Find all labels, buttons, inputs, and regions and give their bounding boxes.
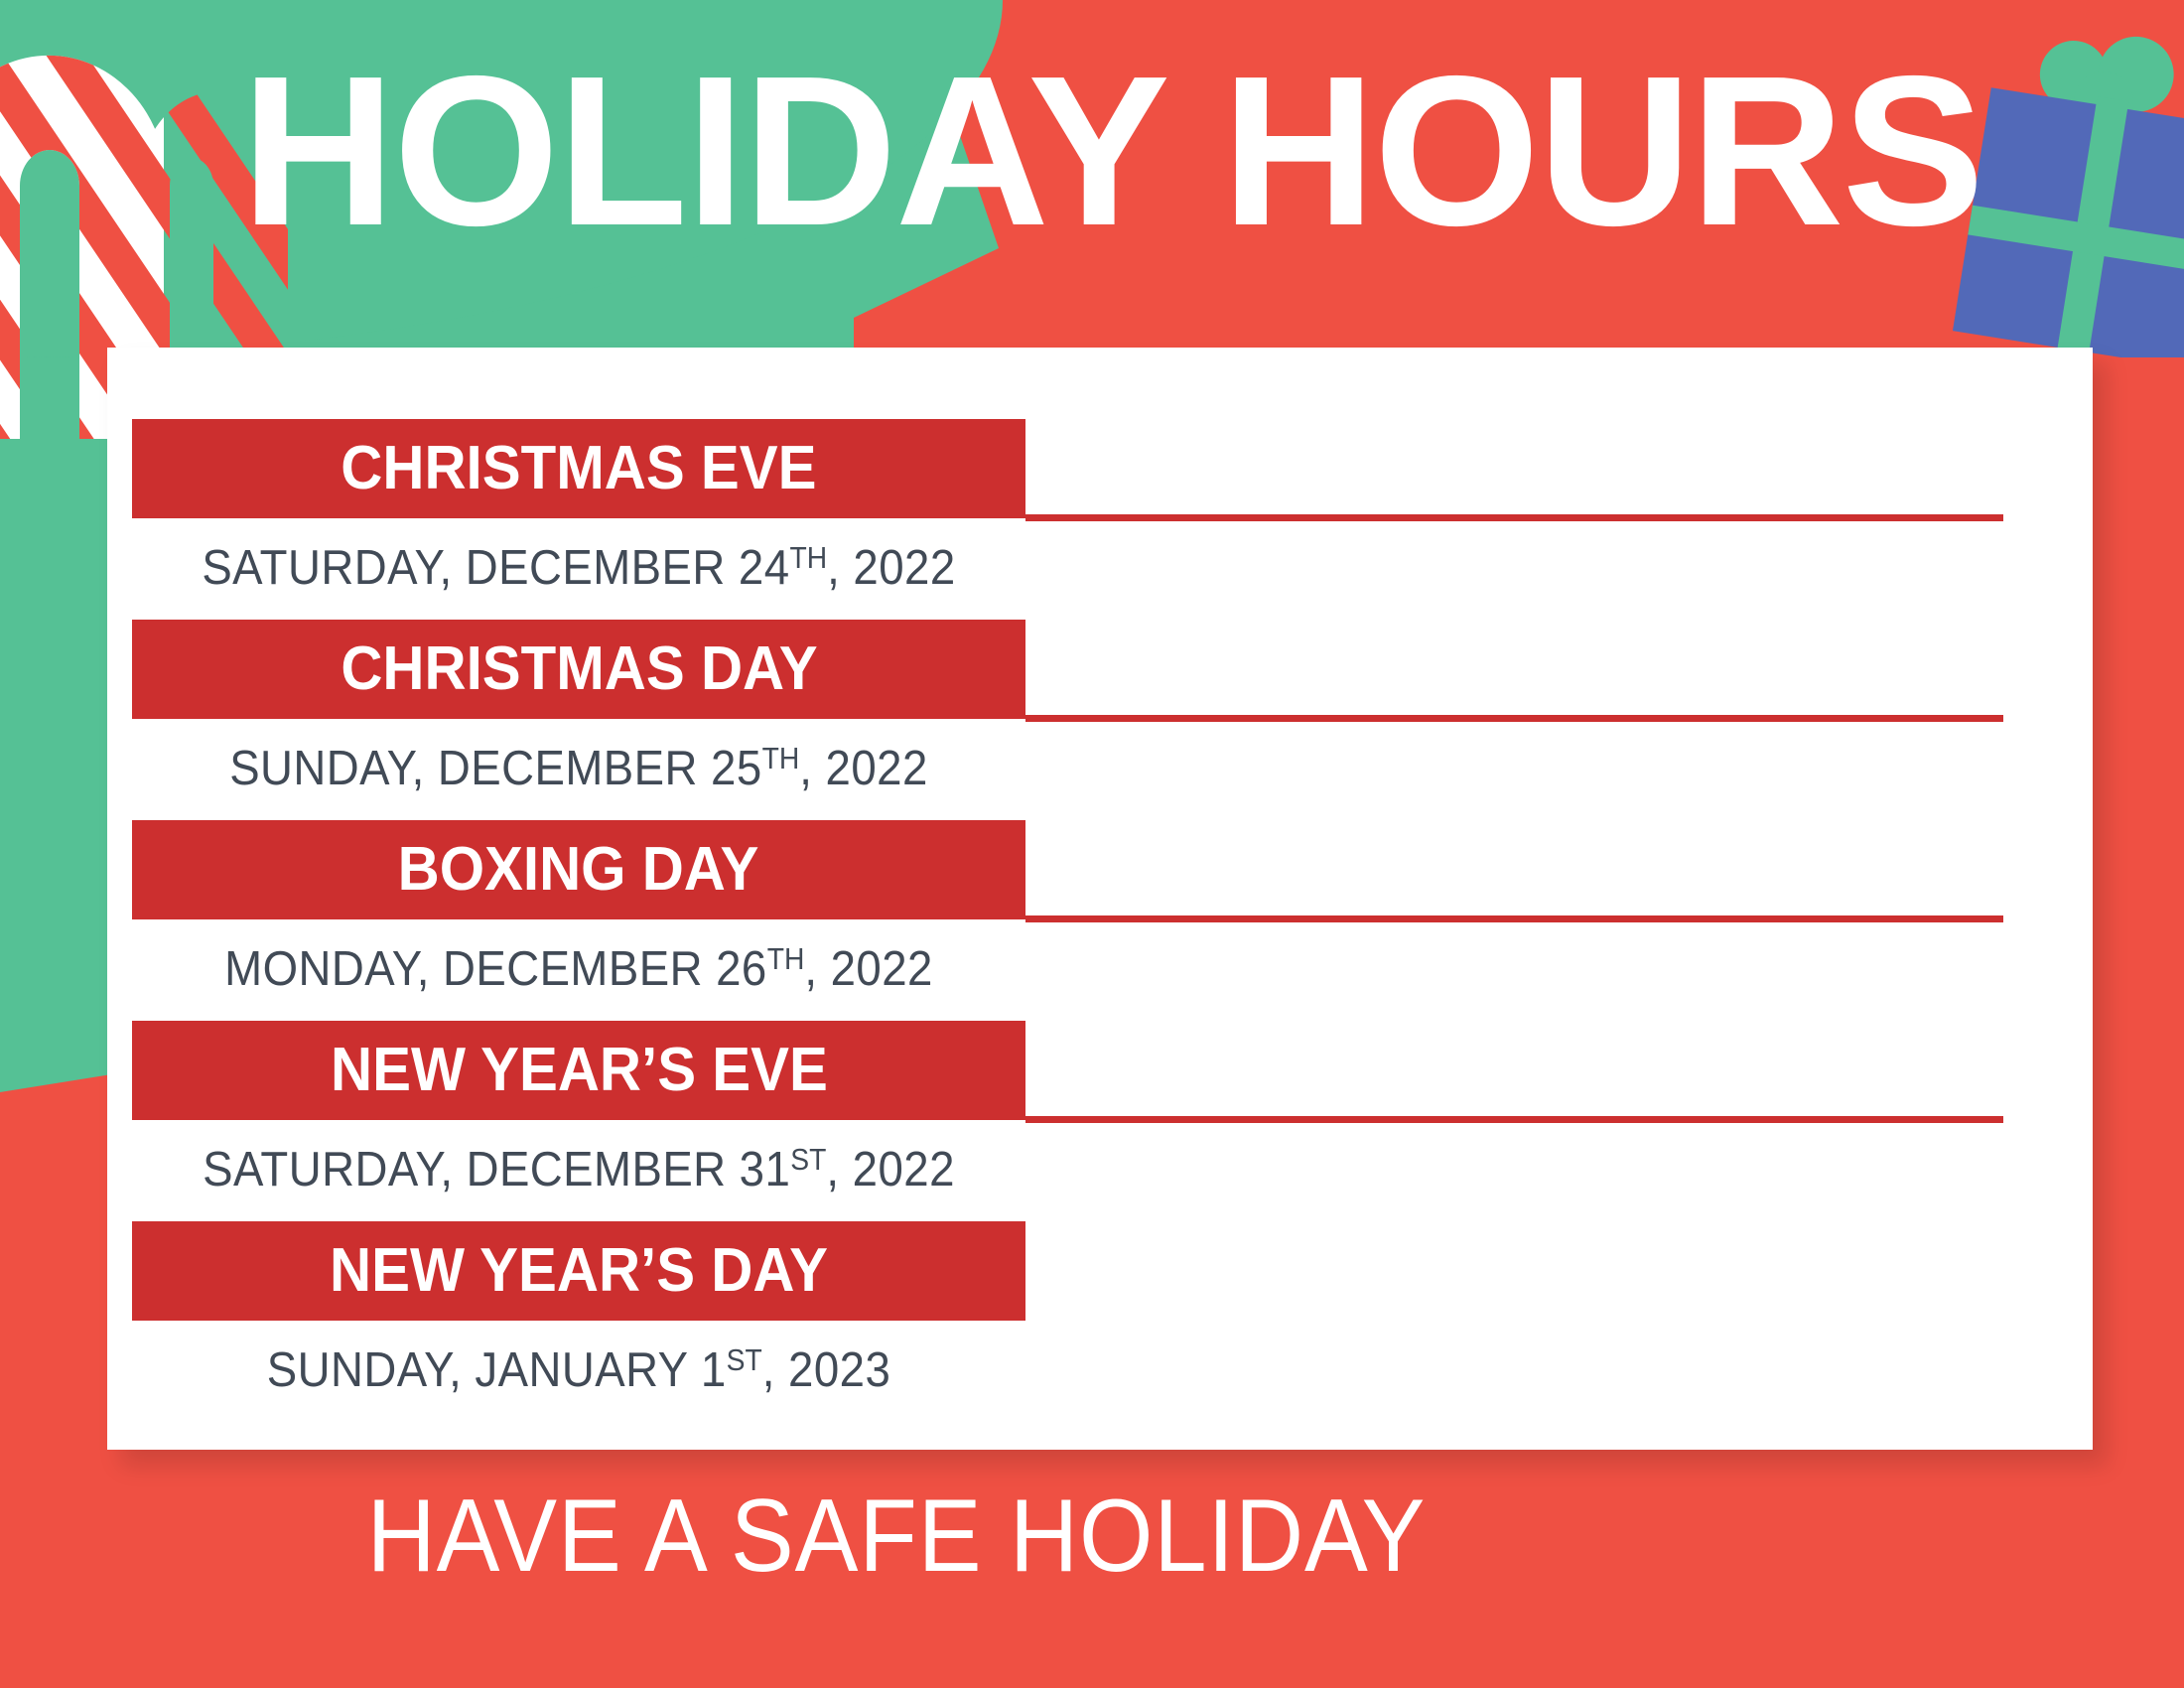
holiday-date-ordinal: TH bbox=[767, 942, 805, 976]
hours-write-in-rule bbox=[1025, 915, 2003, 922]
holiday-name-banner: CHRISTMAS EVE bbox=[132, 419, 1025, 518]
holiday-name-label: CHRISTMAS EVE bbox=[341, 438, 816, 499]
holiday-date-ordinal: TH bbox=[762, 742, 800, 775]
holiday-date-ordinal: ST bbox=[727, 1343, 762, 1377]
holiday-name-label: CHRISTMAS DAY bbox=[341, 638, 817, 700]
hours-write-in-rule bbox=[1025, 1116, 2003, 1123]
holiday-name-label: NEW YEAR’S EVE bbox=[331, 1040, 828, 1101]
holiday-date-suffix: , 2022 bbox=[826, 1143, 954, 1196]
holiday-banner-wrap: CHRISTMAS EVE bbox=[107, 419, 2093, 522]
holiday-row: CHRISTMAS DAYSUNDAY, DECEMBER 25TH, 2022 bbox=[107, 620, 2093, 796]
holiday-row: NEW YEAR’S DAYSUNDAY, JANUARY 1ST, 2023 bbox=[107, 1221, 2093, 1398]
holiday-date-suffix: , 2022 bbox=[799, 742, 927, 795]
holiday-date-suffix: , 2023 bbox=[762, 1343, 890, 1397]
holiday-row: BOXING DAYMONDAY, DECEMBER 26TH, 2022 bbox=[107, 820, 2093, 997]
holiday-name-banner: NEW YEAR’S EVE bbox=[132, 1021, 1025, 1120]
holiday-banner-wrap: BOXING DAY bbox=[107, 820, 2093, 923]
holiday-name-label: BOXING DAY bbox=[398, 839, 759, 901]
page-title: HOLIDAY HOURS bbox=[0, 52, 2184, 250]
holiday-date-suffix: , 2022 bbox=[804, 942, 932, 996]
holiday-date-prefix: MONDAY, DECEMBER 26 bbox=[224, 942, 767, 996]
holiday-row: NEW YEAR’S EVESATURDAY, DECEMBER 31ST, 2… bbox=[107, 1021, 2093, 1197]
holiday-name-banner: CHRISTMAS DAY bbox=[132, 620, 1025, 719]
holiday-date-suffix: , 2022 bbox=[827, 541, 955, 595]
holiday-row: CHRISTMAS EVESATURDAY, DECEMBER 24TH, 20… bbox=[107, 419, 2093, 596]
holiday-name-label: NEW YEAR’S DAY bbox=[330, 1240, 828, 1302]
holiday-date-label: SATURDAY, DECEMBER 24TH, 2022 bbox=[164, 522, 995, 596]
holiday-date-label: SUNDAY, JANUARY 1ST, 2023 bbox=[164, 1325, 995, 1398]
holiday-date-prefix: SUNDAY, DECEMBER 25 bbox=[229, 742, 761, 795]
holiday-banner-wrap: CHRISTMAS DAY bbox=[107, 620, 2093, 723]
holiday-banner-wrap: NEW YEAR’S EVE bbox=[107, 1021, 2093, 1124]
holiday-date-prefix: SUNDAY, JANUARY 1 bbox=[267, 1343, 727, 1397]
holiday-date-ordinal: ST bbox=[790, 1143, 826, 1177]
holiday-date-prefix: SATURDAY, DECEMBER 31 bbox=[203, 1143, 790, 1196]
holiday-date-label: SUNDAY, DECEMBER 25TH, 2022 bbox=[164, 723, 995, 796]
holiday-date-label: MONDAY, DECEMBER 26TH, 2022 bbox=[164, 923, 995, 997]
holiday-hours-poster: HOLIDAY HOURS CHRISTMAS EVESATURDAY, DEC… bbox=[0, 0, 2184, 1688]
footer-message: HAVE A SAFE HOLIDAY bbox=[71, 1481, 1721, 1591]
holiday-date-prefix: SATURDAY, DECEMBER 24 bbox=[202, 541, 789, 595]
holiday-date-label: SATURDAY, DECEMBER 31ST, 2022 bbox=[164, 1124, 995, 1197]
hours-write-in-rule bbox=[1025, 715, 2003, 722]
holiday-name-banner: NEW YEAR’S DAY bbox=[132, 1221, 1025, 1321]
holiday-name-banner: BOXING DAY bbox=[132, 820, 1025, 919]
holiday-banner-wrap: NEW YEAR’S DAY bbox=[107, 1221, 2093, 1325]
holiday-hours-card: CHRISTMAS EVESATURDAY, DECEMBER 24TH, 20… bbox=[107, 348, 2093, 1450]
hours-write-in-rule bbox=[1025, 514, 2003, 521]
holiday-date-ordinal: TH bbox=[790, 541, 828, 575]
